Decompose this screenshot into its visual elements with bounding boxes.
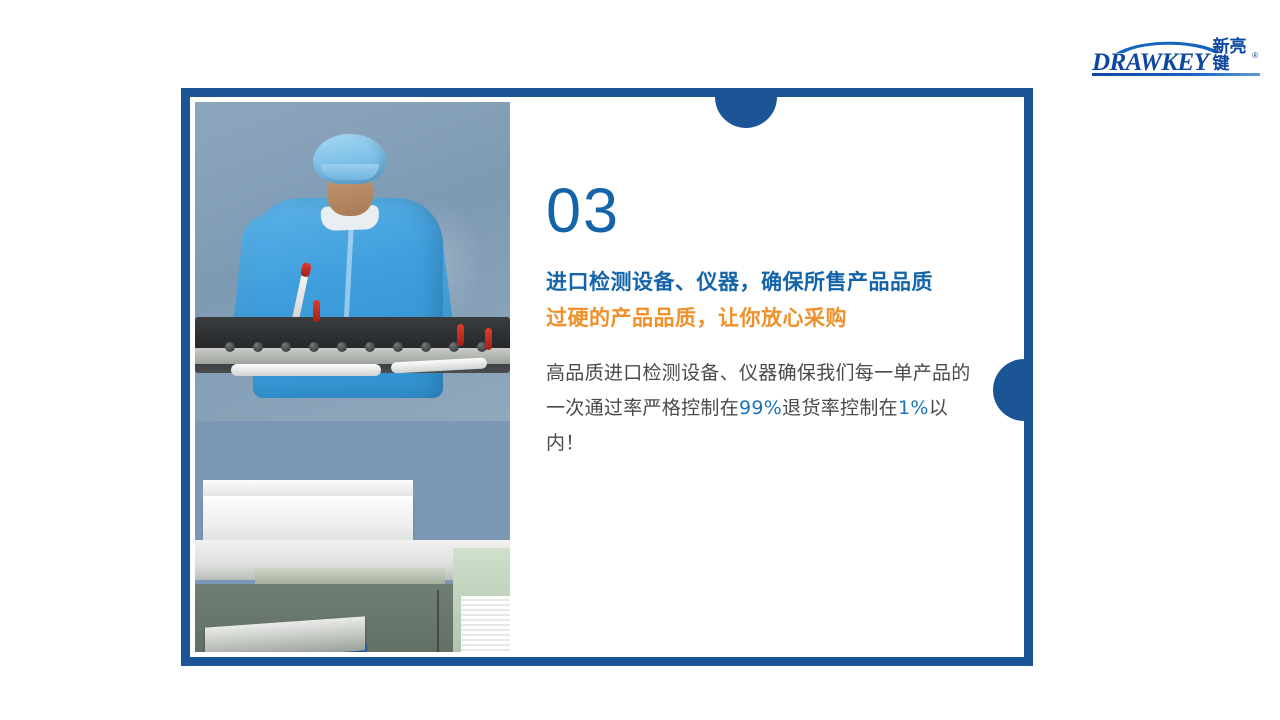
- logo-chinese-name: 新亮键: [1212, 39, 1250, 73]
- section-number: 03: [546, 180, 983, 243]
- photo-paper-stack: [461, 596, 510, 652]
- logo-wordmark: DRAWKEY: [1092, 50, 1208, 75]
- photo-worker-cap: [313, 134, 387, 184]
- logo-underline: [1092, 73, 1260, 76]
- body-text-part2: 退货率控制在: [782, 397, 898, 419]
- text-panel: 03 进口检测设备、仪器，确保所售产品品质 过硬的产品品质，让你放心采购 高品质…: [510, 102, 1019, 652]
- headline-primary: 进口检测设备、仪器，确保所售产品品质: [546, 267, 983, 297]
- brand-logo: DRAWKEY 新亮键 ®: [1092, 40, 1260, 76]
- card-inner: 03 进口检测设备、仪器，确保所售产品品质 过硬的产品品质，让你放心采购 高品质…: [195, 102, 1019, 652]
- photo-red-knob-right2: [485, 328, 492, 350]
- photo-red-knob-center: [313, 300, 320, 322]
- headline-secondary: 过硬的产品品质，让你放心采购: [546, 303, 983, 333]
- registered-trademark-icon: ®: [1252, 51, 1258, 60]
- slide-root: DRAWKEY 新亮键 ®: [0, 0, 1280, 720]
- photo-white-tube: [231, 364, 381, 376]
- highlight-pass-rate: 99%: [739, 397, 782, 419]
- factory-worker-photo: [195, 102, 510, 652]
- photo-red-knob-right: [457, 324, 464, 346]
- body-paragraph: 高品质进口检测设备、仪器确保我们每一单产品的一次通过率严格控制在99%退货率控制…: [546, 356, 983, 461]
- highlight-return-rate: 1%: [898, 397, 929, 419]
- content-card: 03 进口检测设备、仪器，确保所售产品品质 过硬的产品品质，让你放心采购 高品质…: [181, 88, 1033, 666]
